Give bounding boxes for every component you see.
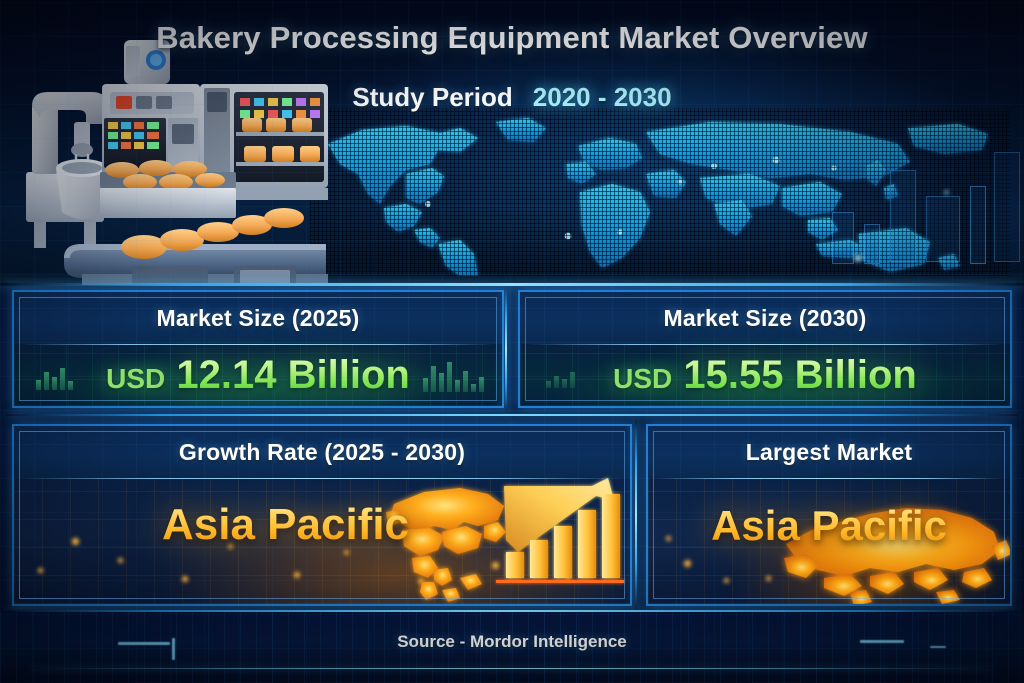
page-title: Bakery Processing Equipment Market Overv… — [0, 20, 1024, 56]
divider-horizontal-rows — [6, 414, 1018, 416]
currency-label: USD — [613, 363, 672, 394]
infographic-canvas: Bakery Processing Equipment Market Overv… — [0, 0, 1024, 683]
header-divider — [0, 283, 1024, 286]
header-section: Bakery Processing Equipment Market Overv… — [0, 0, 1024, 285]
card-largest-market[interactable]: Largest Market Asia Pacific — [646, 424, 1012, 606]
bakery-equipment-icon — [4, 22, 334, 285]
study-period-label: Study Period — [352, 82, 512, 112]
value-amount: 15.55 — [683, 353, 783, 397]
card-value: USD 12.14 Billion — [14, 353, 502, 398]
value-amount: 12.14 — [176, 353, 276, 397]
card-value: USD 15.55 Billion — [520, 353, 1010, 398]
card-heading: Market Size (2030) — [520, 292, 1010, 344]
card-growth-rate[interactable]: Growth Rate (2025 - 2030) Asia Pacific — [12, 424, 632, 606]
card-market-size-2025[interactable]: Market Size (2025) USD 12.14 Billion — [12, 290, 504, 408]
divider-vertical-row1 — [505, 286, 507, 412]
divider-vertical-row2 — [635, 420, 637, 610]
study-period-value: 2020 - 2030 — [533, 82, 672, 112]
study-period-row: Study Period2020 - 2030 — [0, 82, 1024, 113]
card-heading: Largest Market — [648, 426, 1010, 478]
currency-label: USD — [106, 363, 165, 394]
card-value: Asia Pacific — [648, 502, 1010, 550]
card-heading: Market Size (2025) — [14, 292, 502, 344]
value-unit: Billion — [795, 353, 917, 397]
source-label: Source - Mordor Intelligence — [0, 632, 1024, 652]
tech-decoration-right — [824, 150, 1024, 285]
card-heading: Growth Rate (2025 - 2030) — [14, 426, 630, 478]
footer-glow-line — [30, 668, 994, 669]
card-market-size-2030[interactable]: Market Size (2030) USD 15.55 Billion — [518, 290, 1012, 408]
card-value: Asia Pacific — [14, 500, 630, 550]
footer-section: Source - Mordor Intelligence — [0, 612, 1024, 683]
value-unit: Billion — [288, 353, 410, 397]
